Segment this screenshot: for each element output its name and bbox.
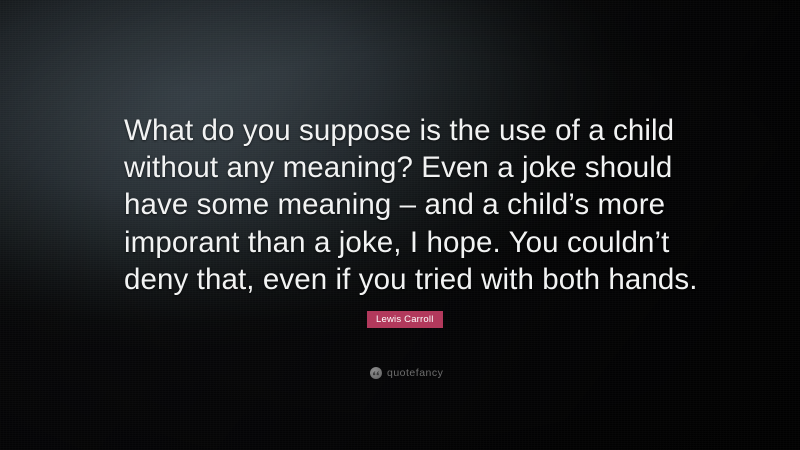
quote-mark-icon [370,367,382,379]
quote-line: What do you suppose is the use of a chil… [124,112,680,149]
watermark-brand: quotefancy [387,367,443,379]
watermark[interactable]: quotefancy [370,367,443,379]
author-name: Lewis Carroll [376,314,434,325]
quote-line: have some meaning – and a child’s more [124,186,680,223]
quote-line: without any meaning? Even a joke should [124,149,680,186]
quote-line: deny that, even if you tried with both h… [124,261,680,298]
quote-content: What do you suppose is the use of a chil… [0,0,800,450]
quote-text: What do you suppose is the use of a chil… [124,112,680,298]
author-badge[interactable]: Lewis Carroll [367,311,443,328]
quote-image: What do you suppose is the use of a chil… [0,0,800,450]
quote-line: imporant than a joke, I hope. You couldn… [124,224,680,261]
